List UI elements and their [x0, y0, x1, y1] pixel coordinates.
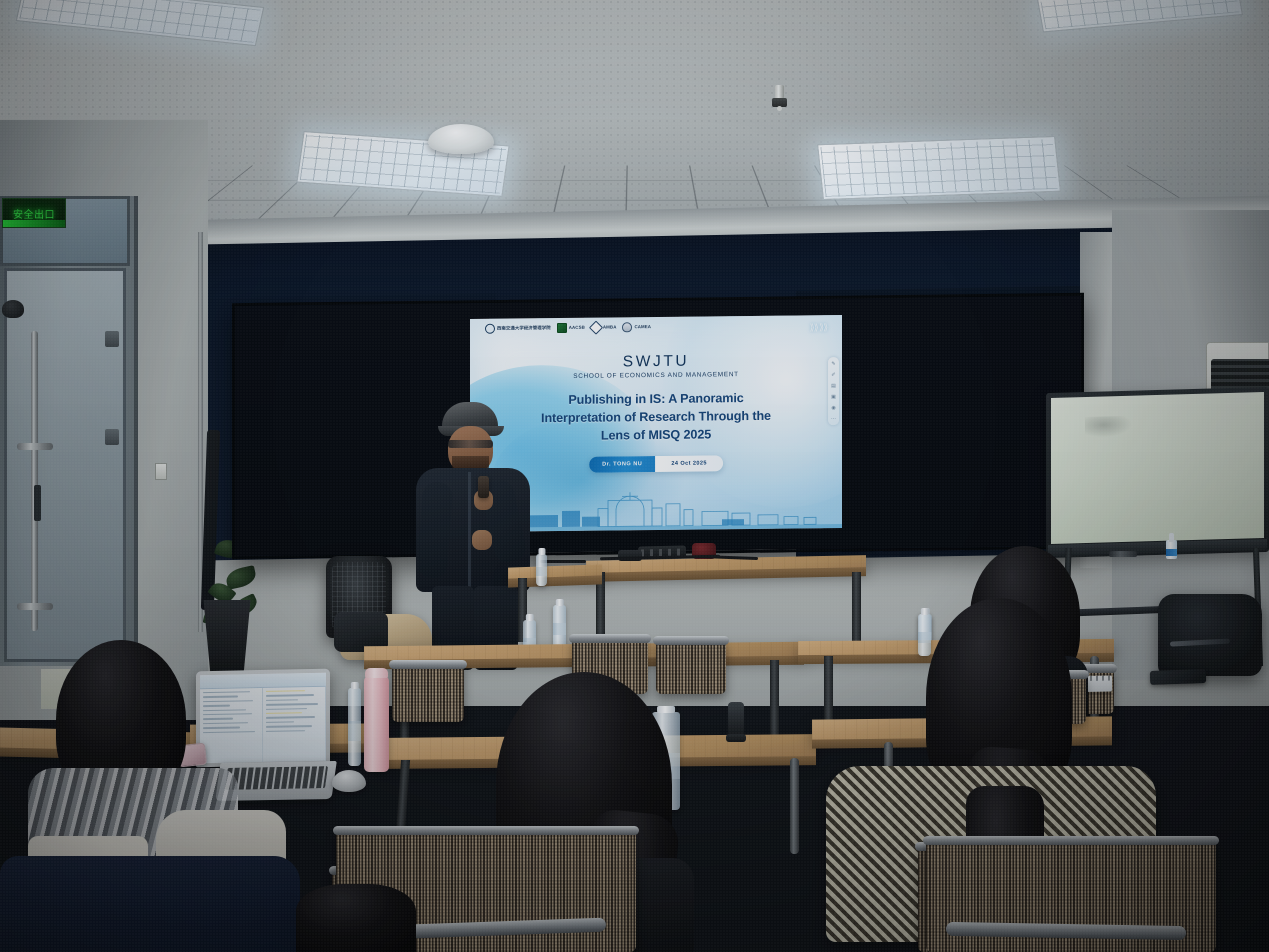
exit-sign-text: 安全出口 [13, 206, 55, 221]
eraser-icon[interactable]: ▤ [830, 382, 837, 389]
amba-icon [589, 321, 603, 335]
chevron-decor-icon: ⟫⟫ ⟫⟫ [810, 322, 828, 333]
water-bottle[interactable] [348, 688, 361, 766]
presenter-hand-left [472, 530, 492, 550]
door-handle[interactable] [31, 331, 38, 631]
amba-logo: AMBA [591, 322, 617, 332]
pen-icon[interactable]: ✎ [830, 360, 837, 367]
shapes-icon[interactable]: ▣ [830, 393, 837, 400]
mobile-whiteboard[interactable] [1046, 387, 1269, 558]
seal-icon [485, 324, 495, 334]
annotation-toolbar[interactable]: ✎ ✐ ▤ ▣ ◉ ⋯ [828, 357, 839, 425]
slide-badge-group: Dr. TONG NU 24 Oct 2025 [589, 455, 723, 472]
foreground-jacket [0, 856, 300, 952]
door-hinge [105, 429, 119, 445]
backpack[interactable] [1158, 594, 1262, 676]
ceiling-light-panel [817, 136, 1061, 200]
table-leg [770, 660, 779, 736]
highlighter-icon[interactable]: ✐ [830, 371, 837, 378]
whiteboard-surface[interactable] [1051, 392, 1264, 544]
security-camera-dome-icon [2, 300, 24, 318]
accreditation-logo-bar: 西南交通大学经济管理学院 AACSB AMBA CAMEA [485, 322, 651, 334]
aacsb-logo: AACSB [557, 323, 585, 333]
presenter-shirt-placket [468, 472, 471, 588]
water-bottle[interactable] [553, 605, 566, 649]
cama-logo: CAMEA [622, 322, 651, 332]
microphone[interactable] [728, 702, 744, 738]
glass-door[interactable] [4, 268, 126, 662]
door-push-bar-lower[interactable] [17, 603, 53, 610]
slide-title: Publishing in IS: A Panoramic Interpreta… [489, 389, 824, 446]
door-lock-icon [34, 485, 41, 521]
pink-thermos-flask[interactable] [364, 676, 389, 772]
speaker-badge: Dr. TONG NU [589, 456, 655, 473]
hair [296, 884, 416, 952]
swjtu-seal-logo: 西南交通大学经济管理学院 [485, 323, 551, 334]
door-hinge [105, 331, 119, 347]
chair[interactable] [926, 840, 1216, 952]
hand-sanitizer-bottle[interactable] [1166, 533, 1177, 559]
slide-title-line: Lens of MISQ 2025 [489, 425, 824, 446]
whiteboard-markers[interactable] [1109, 551, 1137, 557]
presenter-remote[interactable] [478, 476, 489, 498]
presenter-glasses [448, 440, 493, 448]
date-badge: 24 Oct 2025 [655, 455, 723, 472]
fire-sprinkler-head-icon [772, 85, 787, 111]
emergency-exit-sign: 安全出口 [2, 198, 66, 228]
cama-icon [622, 322, 632, 332]
screenshot-icon[interactable]: ◉ [830, 404, 837, 411]
light-switch[interactable] [155, 463, 167, 480]
microphone-base [726, 734, 746, 742]
wireless-mouse[interactable] [332, 770, 366, 792]
water-bottle[interactable] [536, 554, 547, 586]
table-leg [790, 758, 799, 854]
slide-brand-block: SWJTU SCHOOL OF ECONOMICS AND MANAGEMENT [470, 351, 842, 381]
more-icon[interactable]: ⋯ [830, 415, 837, 422]
smoke-detector-dome-icon [428, 124, 494, 154]
classroom-scene: 安全出口 西南交通大学经济管理学院 AACSB AMB [0, 0, 1269, 952]
aacsb-icon [557, 323, 567, 333]
door-push-bar[interactable] [17, 443, 53, 450]
